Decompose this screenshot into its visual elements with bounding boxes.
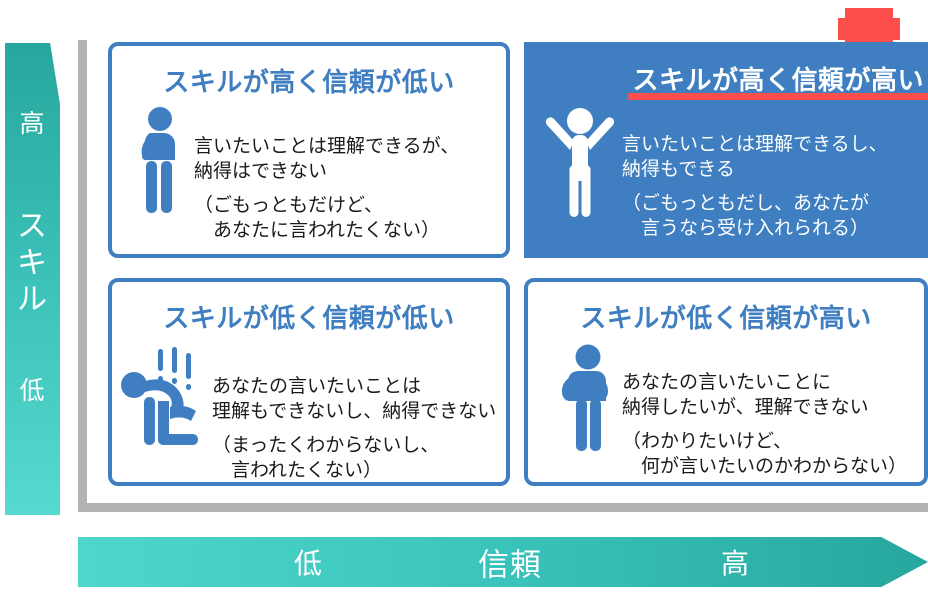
quadrant-text-line2: （ごもっともだけど、 あなたに言われたくない） [194,193,459,243]
person-arms-crossed-icon [128,105,188,222]
quadrant-title: スキルが高く信頼が高い [632,60,924,97]
quadrant-text-line2: （ごもっともだし、あなたが 言うなら受け入れられる） [622,191,888,241]
quadrant-card-high-skill-low-trust[interactable]: スキルが高く信頼が低い 言いたいことは理解できるが、 納得はできない （ごもっと [108,42,510,258]
person-kneeling-despair-icon [118,345,210,454]
person-arms-raised-icon [544,103,616,224]
quadrant-text-line2: （まったくわからないし、 言われたくない） [212,433,496,483]
trust-axis-low-label: 低 [294,542,323,582]
quadrant-title: スキルが低く信頼が低い [112,298,506,335]
quadrant-text: 言いたいことは理解できるし、 納得もできる （ごもっともだし、あなたが 言うなら… [622,103,888,266]
quadrant-text-line1: あなたの言いたいことは 理解もできないし、納得できない [212,376,496,422]
quadrant-body: 言いたいことは理解できるが、 納得はできない （ごもっともだけど、 あなたに言わ… [112,99,506,268]
quadrant-text-line1: 言いたいことは理解できるが、 納得はできない [194,136,459,182]
quadrant-title: スキルが低く信頼が高い [528,298,924,335]
trust-axis-label: 信頼 [478,540,542,585]
quadrant-matrix-diagram: 高 スキル 低 低 信頼 高 スキルが高く信頼が低い [0,0,928,601]
quadrant-text-line2: （わかりたいけど、 何が言いたいのかわからない） [622,429,907,479]
quadrant-card-low-skill-low-trust[interactable]: スキルが低く信頼が低い [108,278,510,486]
axis-line-vertical [78,40,87,512]
skill-axis-low-label: 低 [5,378,60,404]
trust-axis-high-label: 高 [721,542,750,582]
quadrant-body: 言いたいことは理解できるし、 納得もできる （ごもっともだし、あなたが 言うなら… [528,97,924,266]
quadrant-text-line1: 言いたいことは理解できるし、 納得もできる [622,134,888,180]
quadrant-text: あなたの言いたいことは 理解もできないし、納得できない （まったくわからないし、… [212,345,496,508]
skill-axis-high-label: 高 [5,111,60,137]
skill-axis-label: スキル [5,209,60,319]
quadrant-card-high-skill-high-trust[interactable]: スキルが高く信頼が高い 言いたいことは理解できるし、 納得もできる （ [524,42,928,258]
quadrant-text: あなたの言いたいことに 納得したいが、理解できない （わかりたいけど、 何が言い… [622,341,907,504]
quadrant-body: あなたの言いたいことは 理解もできないし、納得できない （まったくわからないし、… [112,335,506,508]
quadrant-text-line1: あなたの言いたいことに 納得したいが、理解できない [622,372,869,418]
quadrant-title: スキルが高く信頼が低い [112,62,506,99]
quadrant-body: あなたの言いたいことに 納得したいが、理解できない （わかりたいけど、 何が言い… [528,335,924,504]
quadrant-text: 言いたいことは理解できるが、 納得はできない （ごもっともだけど、 あなたに言わ… [194,105,459,268]
person-scratching-head-icon [554,341,616,458]
quadrant-card-low-skill-high-trust[interactable]: スキルが低く信頼が高い あなたの言いたいことに 納得したいが、理解できない （わ [524,278,928,486]
skill-axis-arrow: 高 スキル 低 [5,43,60,515]
trust-axis-arrow: 低 信頼 高 [78,537,928,587]
